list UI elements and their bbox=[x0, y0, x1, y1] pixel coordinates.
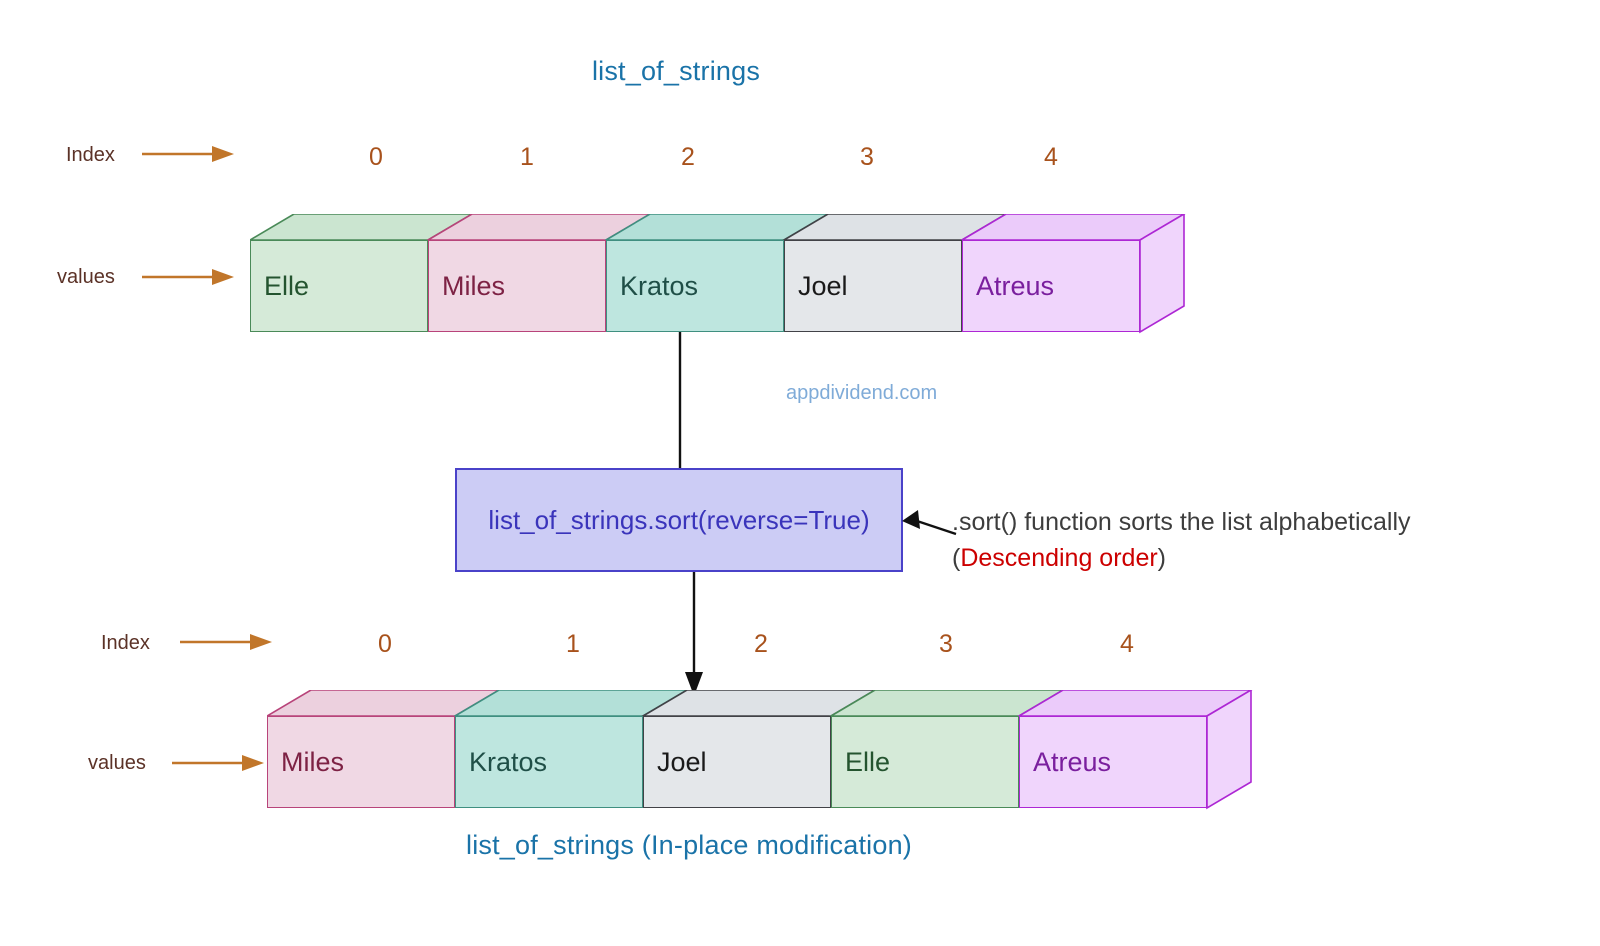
index-number-bottom-2: 2 bbox=[741, 630, 781, 659]
annotation-line-1: .sort() function sorts the list alphabet… bbox=[952, 504, 1552, 540]
values-arrow-bottom-icon bbox=[170, 749, 266, 777]
top-array-cell-4-value: Atreus bbox=[962, 271, 1054, 302]
code-statement-box[interactable]: list_of_strings.sort(reverse=True) bbox=[455, 468, 903, 572]
diagram-canvas: list_of_strings Index 0 1 2 3 4 values E… bbox=[0, 0, 1600, 946]
bottom-array-cell-1-top-face bbox=[455, 690, 687, 716]
annotation-block: .sort() function sorts the list alphabet… bbox=[952, 504, 1552, 577]
top-array-boxes: ElleMilesKratosJoelAtreus bbox=[250, 214, 1184, 332]
watermark-appdividend: appdividend.com bbox=[786, 382, 937, 405]
top-array-right-side-face bbox=[1140, 214, 1184, 332]
index-number-bottom-4: 4 bbox=[1107, 630, 1147, 659]
top-array-cell-0-top-face bbox=[250, 214, 472, 240]
annotation-highlight-text: Descending order bbox=[960, 544, 1157, 572]
connector-code-to-array bbox=[680, 572, 720, 700]
top-array-cell-1[interactable]: Miles bbox=[428, 240, 606, 332]
top-array-cell-1-top-face bbox=[428, 214, 650, 240]
annotation-arrow-icon bbox=[898, 504, 960, 540]
index-number-top-3: 3 bbox=[847, 143, 887, 172]
bottom-array-cell-2[interactable]: Joel bbox=[643, 716, 831, 808]
top-array-cell-4[interactable]: Atreus bbox=[962, 240, 1140, 332]
bottom-array-boxes: MilesKratosJoelElleAtreus bbox=[267, 690, 1251, 808]
top-array-cell-0-value: Elle bbox=[250, 271, 309, 302]
index-number-bottom-3: 3 bbox=[926, 630, 966, 659]
index-number-bottom-0: 0 bbox=[365, 630, 405, 659]
index-number-top-2: 2 bbox=[668, 143, 708, 172]
annotation-line-2: (Descending order) bbox=[952, 540, 1552, 576]
connector-array-to-code bbox=[668, 332, 698, 472]
page-title-top: list_of_strings bbox=[0, 56, 1352, 87]
top-array-cell-3-top-face bbox=[784, 214, 1006, 240]
bottom-array-cell-2-value: Joel bbox=[643, 747, 707, 778]
bottom-array-cell-1[interactable]: Kratos bbox=[455, 716, 643, 808]
index-label-bottom: Index bbox=[101, 632, 150, 655]
bottom-array-cell-0[interactable]: Miles bbox=[267, 716, 455, 808]
bottom-array-cell-1-value: Kratos bbox=[455, 747, 547, 778]
code-statement-text: list_of_strings.sort(reverse=True) bbox=[488, 505, 869, 536]
bottom-array-cell-4[interactable]: Atreus bbox=[1019, 716, 1207, 808]
annotation-paren-close: ) bbox=[1158, 544, 1166, 572]
bottom-array-cell-3-top-face bbox=[831, 690, 1063, 716]
page-title-bottom: list_of_strings (In-place modification) bbox=[0, 830, 1378, 861]
bottom-array-cell-3[interactable]: Elle bbox=[831, 716, 1019, 808]
bottom-array-cell-2-top-face bbox=[643, 690, 875, 716]
index-number-top-0: 0 bbox=[356, 143, 396, 172]
values-label-top: values bbox=[57, 266, 115, 289]
index-arrow-top-icon bbox=[140, 140, 236, 168]
bottom-array-right-side-face bbox=[1207, 690, 1251, 808]
index-label-top: Index bbox=[66, 144, 115, 167]
bottom-array-cell-4-value: Atreus bbox=[1019, 747, 1111, 778]
top-array-cell-2-top-face bbox=[606, 214, 828, 240]
top-array-cell-0[interactable]: Elle bbox=[250, 240, 428, 332]
top-array-cell-3[interactable]: Joel bbox=[784, 240, 962, 332]
values-label-bottom: values bbox=[88, 752, 146, 775]
index-arrow-bottom-icon bbox=[178, 628, 274, 656]
bottom-array-cell-4-top-face bbox=[1019, 690, 1251, 716]
bottom-array-cell-3-value: Elle bbox=[831, 747, 890, 778]
index-number-bottom-1: 1 bbox=[553, 630, 593, 659]
index-number-top-1: 1 bbox=[507, 143, 547, 172]
top-array-cell-2[interactable]: Kratos bbox=[606, 240, 784, 332]
index-number-top-4: 4 bbox=[1031, 143, 1071, 172]
bottom-array-cell-0-top-face bbox=[267, 690, 499, 716]
top-array-cell-1-value: Miles bbox=[428, 271, 505, 302]
bottom-array-cell-0-value: Miles bbox=[267, 747, 344, 778]
values-arrow-top-icon bbox=[140, 263, 236, 291]
top-array-cell-4-top-face bbox=[962, 214, 1184, 240]
top-array-cell-2-value: Kratos bbox=[606, 271, 698, 302]
top-array-cell-3-value: Joel bbox=[784, 271, 848, 302]
